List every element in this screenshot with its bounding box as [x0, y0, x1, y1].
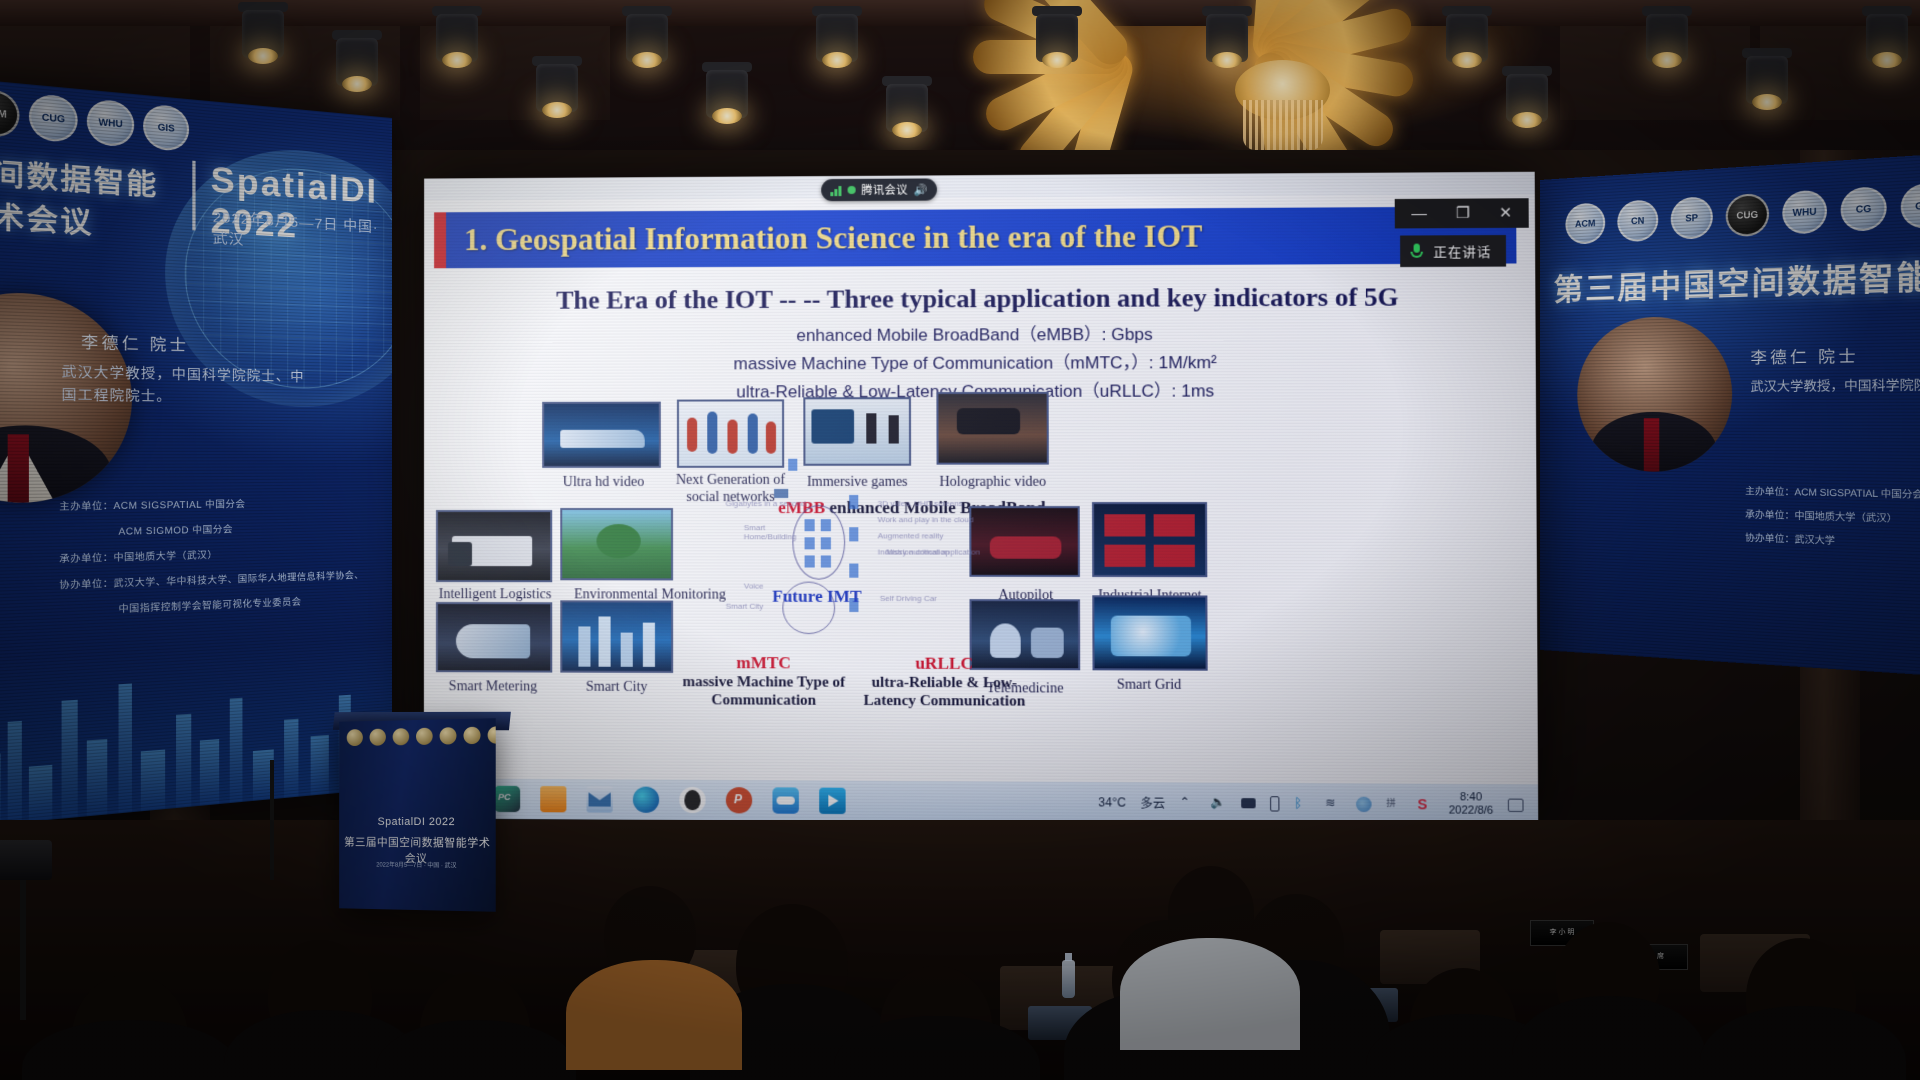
diagram-label: Self Driving Car	[880, 594, 937, 603]
close-button[interactable]: ✕	[1499, 205, 1512, 220]
caption-smart-city: Smart City	[564, 679, 669, 696]
indicator-mmtc: massive Machine Type of Communication（mM…	[424, 347, 1536, 375]
left-led-banner: ACM CUG WHU GIS 空间数据智能学术会议 SpatialDI 202…	[0, 78, 392, 829]
cgcc-logo: CG	[1841, 186, 1887, 232]
powerpoint-icon[interactable]: P	[726, 787, 752, 813]
indicator-embb: enhanced Mobile BroadBand（eMBB）: Gbps	[424, 318, 1536, 347]
wechat-icon[interactable]	[772, 787, 798, 813]
banner-divider	[192, 161, 195, 231]
keyboard-icon[interactable]	[1241, 798, 1255, 808]
right-banner-logos: ACM CN SP CUG WHU CG GIS	[1565, 182, 1920, 244]
organizer-line: 承办单位：中国地质大学（武汉）	[1745, 503, 1920, 533]
sogou-icon[interactable]: S	[1417, 796, 1434, 812]
slide-subtitle: The Era of the IOT -- -- Three typical a…	[424, 282, 1535, 316]
stage-spotlight	[1440, 0, 1494, 70]
right-led-banner: ACM CN SP CUG WHU CG GIS 第三届中国空间数据智能学术会议…	[1540, 152, 1920, 677]
cug-logo: CUG	[1726, 193, 1769, 238]
stage-spotlight	[700, 56, 754, 126]
battery-icon[interactable]	[1270, 796, 1279, 811]
whu-logo: WHU	[1782, 189, 1827, 234]
tag-urllc-short: uRLLC	[851, 653, 1037, 674]
signal-bars-icon	[830, 185, 841, 196]
stage-spotlight	[810, 0, 864, 70]
organizer-line: 主办单位：ACM SIGSPATIAL 中国分会	[1745, 479, 1920, 508]
stage-spotlight	[330, 24, 384, 94]
sigspatial-logo: SP	[1671, 196, 1713, 240]
podium-title-en: SpatialDI 2022	[339, 816, 496, 828]
water-bottle	[1062, 960, 1075, 998]
mail-icon[interactable]	[587, 786, 613, 812]
weather-desc[interactable]: 多云	[1140, 794, 1165, 811]
acm-sigspatial-logo: ACM	[0, 88, 19, 139]
diagram-oval-embb	[792, 505, 845, 580]
audience-shoulders	[1120, 938, 1300, 1050]
gis-logo: GIS	[143, 103, 189, 152]
tag-mmtc: mMTC massive Machine Type of Communicati…	[675, 653, 852, 710]
thumbnail-environmental-monitoring	[560, 508, 673, 580]
stage-spotlight	[530, 50, 584, 120]
thumbnail-intelligent-logistics	[436, 510, 552, 582]
audience-shoulders	[566, 960, 742, 1070]
bluetooth-icon[interactable]: ᛒ	[1294, 795, 1311, 811]
speaker-podium: SpatialDI 2022 第三届中国空间数据智能学术会议 2022年8月5—…	[339, 718, 496, 912]
diagram-label: Voice	[744, 582, 764, 591]
acm-logo: ACM	[1565, 202, 1605, 245]
thumbnail-industrial-internet	[1092, 502, 1207, 577]
recording-dot-icon	[847, 186, 855, 194]
diagram-label: Smart City	[726, 602, 764, 611]
wifi-icon[interactable]: ≋	[1325, 795, 1342, 811]
edge-icon[interactable]	[633, 787, 659, 813]
slide-title: 1. Geospatial Information Science in the…	[446, 217, 1516, 259]
thumbnail-ultra-hd-video	[542, 402, 661, 468]
cug-logo: CUG	[29, 93, 78, 143]
meeting-app-label: 腾讯会议	[861, 182, 908, 198]
tag-urllc: uRLLC ultra-Reliable & Low-Latency Commu…	[851, 653, 1037, 710]
pc-manager-icon[interactable]: PC	[494, 786, 520, 812]
stage-spotlight	[1030, 0, 1084, 70]
speaker-portrait	[1577, 315, 1732, 473]
camera-tripod	[20, 870, 26, 1020]
organizer-line: 协办单位：武汉大学	[1745, 526, 1920, 557]
stage-spotlight	[236, 0, 290, 66]
caption-smart-metering: Smart Metering	[428, 678, 558, 696]
slide-title-bar: 1. Geospatial Information Science in the…	[434, 206, 1516, 268]
video-camera	[0, 840, 52, 880]
speaker-name: 李德仁 院士	[81, 330, 189, 356]
volume-icon[interactable]: 🔈	[1210, 795, 1227, 811]
thumbnail-smart-city	[560, 600, 673, 673]
podium-logos	[347, 726, 496, 746]
speaker-affiliation: 武汉大学教授，中国科学院院士、中国工程院院士。	[62, 360, 311, 409]
left-banner-title-cn: 空间数据智能学术会议	[0, 147, 187, 247]
ime-icon[interactable]: 拼	[1386, 796, 1403, 812]
stage-spotlight	[1740, 42, 1794, 112]
tag-urllc-long: ultra-Reliable & Low-Latency Communicati…	[851, 674, 1037, 711]
stage-spotlight	[1640, 0, 1694, 70]
diagram-label: Work and play in the cloud	[878, 515, 974, 524]
notification-icon[interactable]	[1508, 798, 1524, 811]
stage-spotlight	[1200, 0, 1254, 70]
caption-smart-grid: Smart Grid	[1088, 676, 1209, 694]
future-imt-label: Future IMT	[772, 587, 861, 607]
speaking-indicator: 正在讲话	[1400, 235, 1506, 267]
stage-spotlight	[1860, 0, 1914, 70]
gis-logo: GIS	[1901, 182, 1920, 229]
diagram-label: Mission critical application	[886, 547, 980, 556]
conference-room-photo: ACM CUG WHU GIS 空间数据智能学术会议 SpatialDI 202…	[0, 0, 1920, 1080]
left-banner-logos: ACM CUG WHU GIS	[0, 88, 189, 152]
diagram-label: Augmented reality	[878, 531, 944, 540]
whu-logo: WHU	[87, 98, 134, 147]
stage-spotlight	[880, 70, 934, 140]
diagram-label: 3D video, UHD screens	[878, 499, 963, 508]
diagram-label: Gigabytes in a second	[726, 499, 806, 508]
system-tray: 34°C 多云 ⌃ 🔈 ᛒ ≋ 拼 S 8:40 2022/8/6	[1098, 789, 1538, 818]
clock-time: 8:40	[1460, 791, 1482, 803]
restore-button[interactable]: ❐	[1456, 206, 1470, 221]
window-controls: — ❐ ✕	[1395, 198, 1529, 228]
projection-screen: 腾讯会议 🔊 — ❐ ✕ 正在讲话 1. Geospatial Informat…	[424, 172, 1538, 826]
speaker-affiliation: 武汉大学教授，中国科学院院士	[1751, 374, 1920, 397]
weather-temp[interactable]: 34°C	[1098, 795, 1126, 809]
diagram-label: Smart Home/Building	[744, 523, 785, 541]
thumbnail-social-networks	[677, 399, 784, 467]
caption-ultra-hd-video: Ultra hd video	[528, 474, 679, 491]
tag-mmtc-short: mMTC	[675, 653, 852, 674]
podium-date: 2022年8月5—7日 · 中国 · 武汉	[339, 859, 496, 870]
left-banner-organizers: 主办单位：ACM SIGSPATIAL 中国分会 ACM SIGMOD 中国分会…	[59, 490, 378, 624]
microphone-icon	[1410, 243, 1423, 259]
file-explorer-icon[interactable]	[540, 786, 566, 812]
right-banner-organizers: 主办单位：ACM SIGSPATIAL 中国分会 承办单位：中国地质大学（武汉）…	[1745, 479, 1920, 557]
stage-spotlight	[430, 0, 484, 70]
chevron-up-icon[interactable]: ⌃	[1179, 795, 1196, 811]
minimize-button[interactable]: —	[1411, 206, 1427, 221]
thumbnail-holographic-video	[936, 392, 1048, 465]
right-banner-title: 第三届中国空间数据智能学术会议	[1554, 246, 1920, 309]
microphone-stand	[270, 760, 274, 880]
video-player-icon[interactable]	[819, 788, 845, 814]
stage-spotlight	[620, 0, 674, 70]
clock-date: 2022/8/6	[1449, 804, 1494, 817]
speaking-label: 正在讲话	[1433, 241, 1491, 261]
weather-icon[interactable]	[1356, 796, 1372, 811]
title-accent-bar	[434, 212, 446, 268]
acm-china-logo: CN	[1617, 199, 1658, 242]
thumbnail-smart-grid	[1092, 595, 1207, 670]
windows-taskbar: PC P	[424, 778, 1538, 825]
taskbar-clock[interactable]: 8:40 2022/8/6	[1449, 791, 1494, 818]
qq-icon[interactable]	[679, 787, 705, 813]
slide-canvas: 1. Geospatial Information Science in the…	[424, 194, 1538, 784]
stage-spotlight	[1500, 60, 1554, 130]
thumbnail-immersive-games	[803, 397, 911, 466]
caption-intelligent-logistics: Intelligent Logistics	[426, 586, 564, 603]
tag-mmtc-long: massive Machine Type of Communication	[675, 673, 852, 710]
tencent-meeting-pill[interactable]: 腾讯会议 🔊	[821, 178, 937, 201]
speaker-volume-icon[interactable]: 🔊	[914, 183, 928, 196]
speaker-name: 李德仁 院士	[1751, 344, 1860, 368]
shared-screen-content: 腾讯会议 🔊 — ❐ ✕ 正在讲话 1. Geospatial Informat…	[424, 172, 1538, 826]
thumbnail-smart-metering	[436, 602, 552, 673]
